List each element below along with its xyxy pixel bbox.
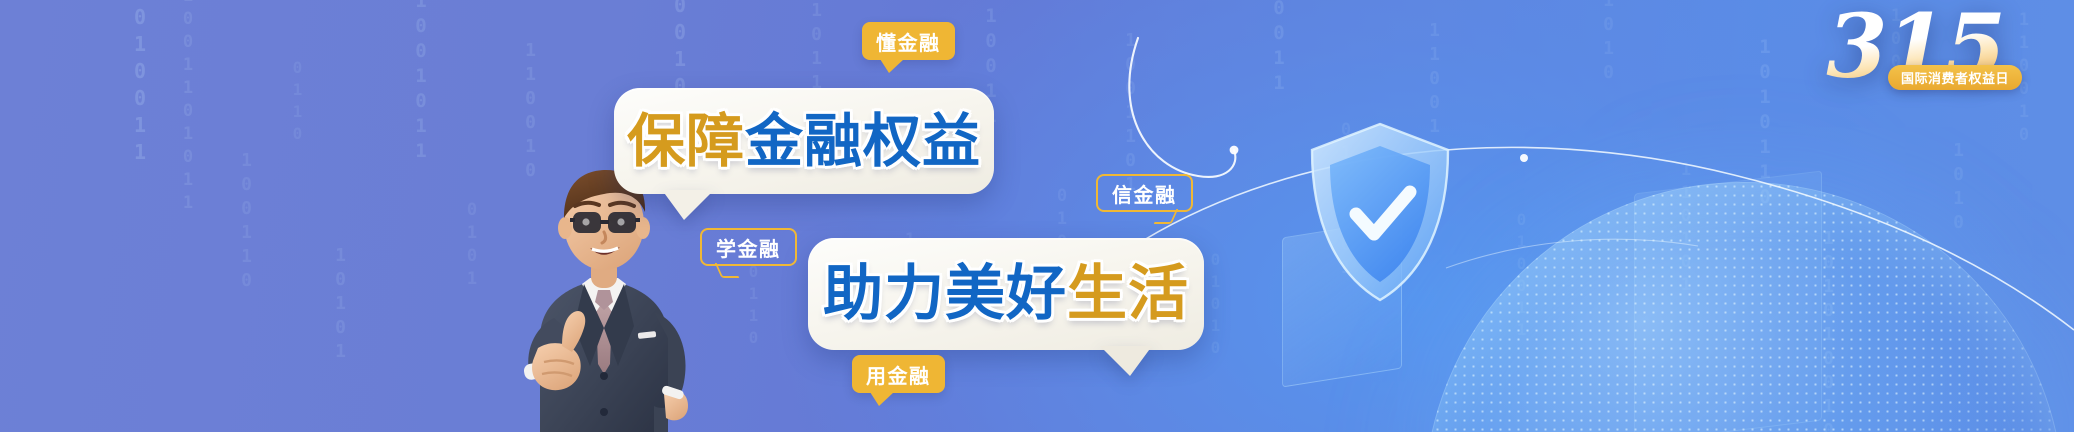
globe-rim [1424,182,2064,432]
binary-column-18: 0101101 [1336,120,1356,281]
binary-column-17: 10011 [1268,0,1290,97]
headline-line1-blue: 金融权益 [745,112,981,170]
tag-dong-label: 懂金融 [876,27,941,56]
glass-panel-right [1634,170,1822,432]
glass-panel-left [1282,218,1402,387]
binary-column-7: 110010 [520,40,541,184]
tag-xue-jinrong[interactable]: 学金融 [700,228,797,266]
tag-yong-jinrong[interactable]: 用金融 [852,355,945,393]
binary-column-26: 1010 [1948,140,1969,236]
binary-column-0: 1010011 [128,0,152,167]
bubble2-tail [1100,346,1152,376]
logo-315-group: 315 国际消费者权益日 [1772,2,2022,100]
bubble1-tail [662,190,714,220]
binary-column-10: 0110 [744,262,763,350]
tag-xue-label: 学金融 [716,233,781,262]
binary-column-6: 0101 [462,200,482,292]
headline-line-1: 保障金融权益 [627,112,981,170]
headline-line1-gold: 保障 [627,112,745,170]
globe-dot-grid [1424,182,2064,432]
tag-dong-tail [880,59,904,73]
tag-xue-tail [715,263,740,278]
binary-column-15: 1001101 [1120,30,1141,198]
binary-column-5: 1001011 [410,0,432,165]
binary-column-16: 01010 [1206,250,1225,360]
binary-column-4: 10101 [330,245,351,365]
binary-column-2: 100110 [236,150,257,294]
tag-xin-tail [1153,209,1178,224]
binary-column-1: 101001101011 [178,0,198,216]
binary-column-19: 11001 [1424,20,1445,140]
headline-line-2: 助力美好生活 [823,264,1189,324]
globe-sphere [1424,182,2064,432]
binary-rain-background: 1010011101001101011100110011010101100101… [0,0,2074,432]
headline-bubble-primary: 保障金融权益 [614,88,994,194]
binary-column-8: 10011 [602,170,622,285]
headline-bubble-secondary: 助力美好生活 [808,238,1204,350]
tag-yong-tail [870,392,894,406]
tag-yong-label: 用金融 [866,360,931,389]
binary-column-24: 10101001011 [1818,228,1839,432]
binary-column-20: 010011 [1512,210,1531,342]
headline-line2-blue: 助力美好 [823,264,1067,324]
shield-check-icon [1300,118,1460,308]
banner-root: 1010011101001101011100110011010101100101… [0,0,2074,432]
headline-line2-gold: 生活 [1067,264,1189,324]
binary-column-3: 0110 [288,58,307,146]
tag-dong-jinrong[interactable]: 懂金融 [862,22,955,60]
tag-xin-jinrong[interactable]: 信金融 [1096,174,1193,212]
binary-column-22: 110101 [1676,160,1696,298]
logo-315-caption-pill: 国际消费者权益日 [1888,65,2022,90]
binary-column-21: 1010 [1598,0,1619,86]
tag-xin-label: 信金融 [1112,179,1177,208]
